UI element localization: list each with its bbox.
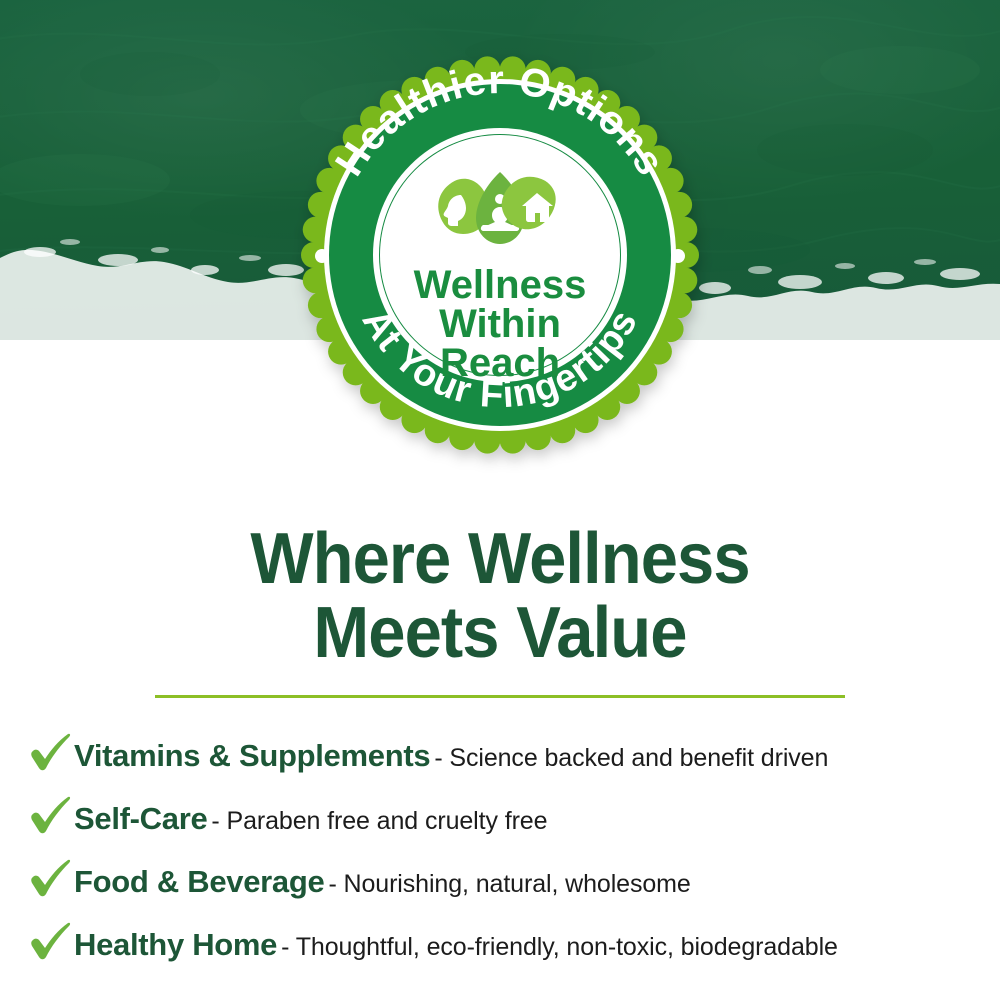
feature-item: Food & Beverage- Nourishing, natural, wh… [28,852,978,915]
feature-list: Vitamins & Supplements- Science backed a… [28,726,978,978]
feature-item: Self-Care- Paraben free and cruelty free [28,789,978,852]
feature-text: Self-Care- Paraben free and cruelty free [74,801,978,837]
badge-center-line3: Reach [440,341,560,385]
feature-description: - Nourishing, natural, wholesome [328,870,690,898]
wellness-badge: Healthier Options At Your Fingertips [290,60,710,450]
badge-center-line2: Within [439,302,561,346]
check-icon [28,795,74,835]
title-divider [155,695,845,698]
check-icon [28,858,74,898]
feature-category: Vitamins & Supplements [74,738,430,773]
feature-category: Food & Beverage [74,864,324,899]
promo-page: Healthier Options At Your Fingertips [0,0,1000,1000]
badge-dot-left [315,249,329,263]
feature-description: - Science backed and benefit driven [434,744,828,772]
feature-item: Healthy Home- Thoughtful, eco-friendly, … [28,915,978,978]
badge-dot-right [671,249,685,263]
feature-description: - Thoughtful, eco-friendly, non-toxic, b… [281,933,838,961]
check-icon [28,921,74,961]
badge-center-line1: Wellness [414,263,587,307]
page-title: Where Wellness Meets Value [35,522,965,670]
feature-text: Vitamins & Supplements- Science backed a… [74,738,978,774]
feature-text: Healthy Home- Thoughtful, eco-friendly, … [74,927,978,963]
feature-item: Vitamins & Supplements- Science backed a… [28,726,978,789]
feature-description: - Paraben free and cruelty free [211,807,547,835]
check-icon [28,732,74,772]
feature-text: Food & Beverage- Nourishing, natural, wh… [74,864,978,900]
feature-category: Self-Care [74,801,207,836]
feature-category: Healthy Home [74,927,277,962]
